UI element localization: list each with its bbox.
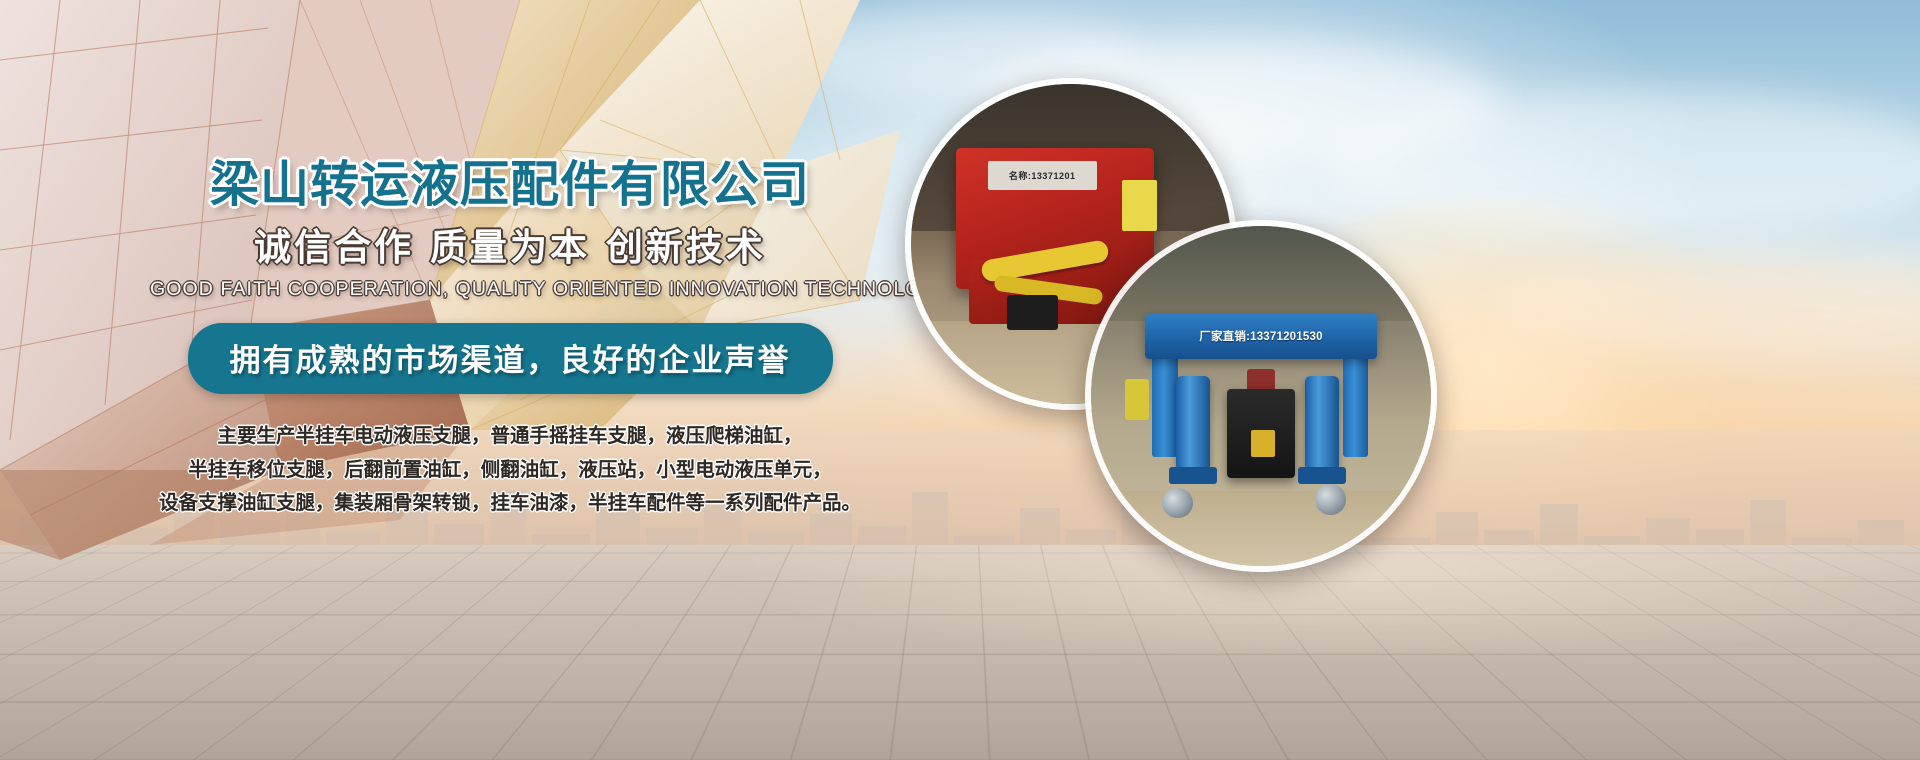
slogan-chinese: 诚信合作 质量为本 创新技术 xyxy=(150,227,870,268)
factory-direct-phone-banner: 厂家直销:13371201530 xyxy=(1145,314,1376,358)
phone-number-text: 厂家直销:13371201530 xyxy=(1199,328,1322,344)
banner-text-block: 梁山转运液压配件有限公司 诚信合作 质量为本 创新技术 GOOD FAITH C… xyxy=(150,160,870,521)
slogan-english: GOOD FAITH COOPERATION, QUALITY ORIENTED… xyxy=(150,278,870,301)
product-description: 主要生产半挂车电动液压支腿，普通手摇挂车支腿，液压爬梯油缸， 半挂车移位支腿，后… xyxy=(150,420,870,521)
product-photo-blue-landing-gear[interactable]: 厂家直销:13371201530 xyxy=(1085,220,1437,572)
highlight-pill-label: 拥有成熟的市场渠道，良好的企业声誉 xyxy=(230,343,791,378)
description-line: 半挂车移位支腿，后翻前置油缸，侧翻油缸，液压站，小型电动液压单元， xyxy=(150,454,870,488)
highlight-pill-wrapper: 拥有成熟的市场渠道，良好的企业声誉 xyxy=(150,323,870,394)
description-line: 主要生产半挂车电动液压支腿，普通手摇挂车支腿，液压爬梯油缸， xyxy=(150,420,870,454)
hero-banner: 梁山转运液压配件有限公司 诚信合作 质量为本 创新技术 GOOD FAITH C… xyxy=(0,0,1920,760)
red-machine-label: 名称:13371201 xyxy=(988,161,1097,190)
description-line: 设备支撑油缸支腿，集装厢骨架转锁，挂车油漆，半挂车配件等一系列配件产品。 xyxy=(150,487,870,521)
company-name-title: 梁山转运液压配件有限公司 xyxy=(150,160,870,211)
highlight-pill: 拥有成熟的市场渠道，良好的企业声誉 xyxy=(188,323,833,394)
